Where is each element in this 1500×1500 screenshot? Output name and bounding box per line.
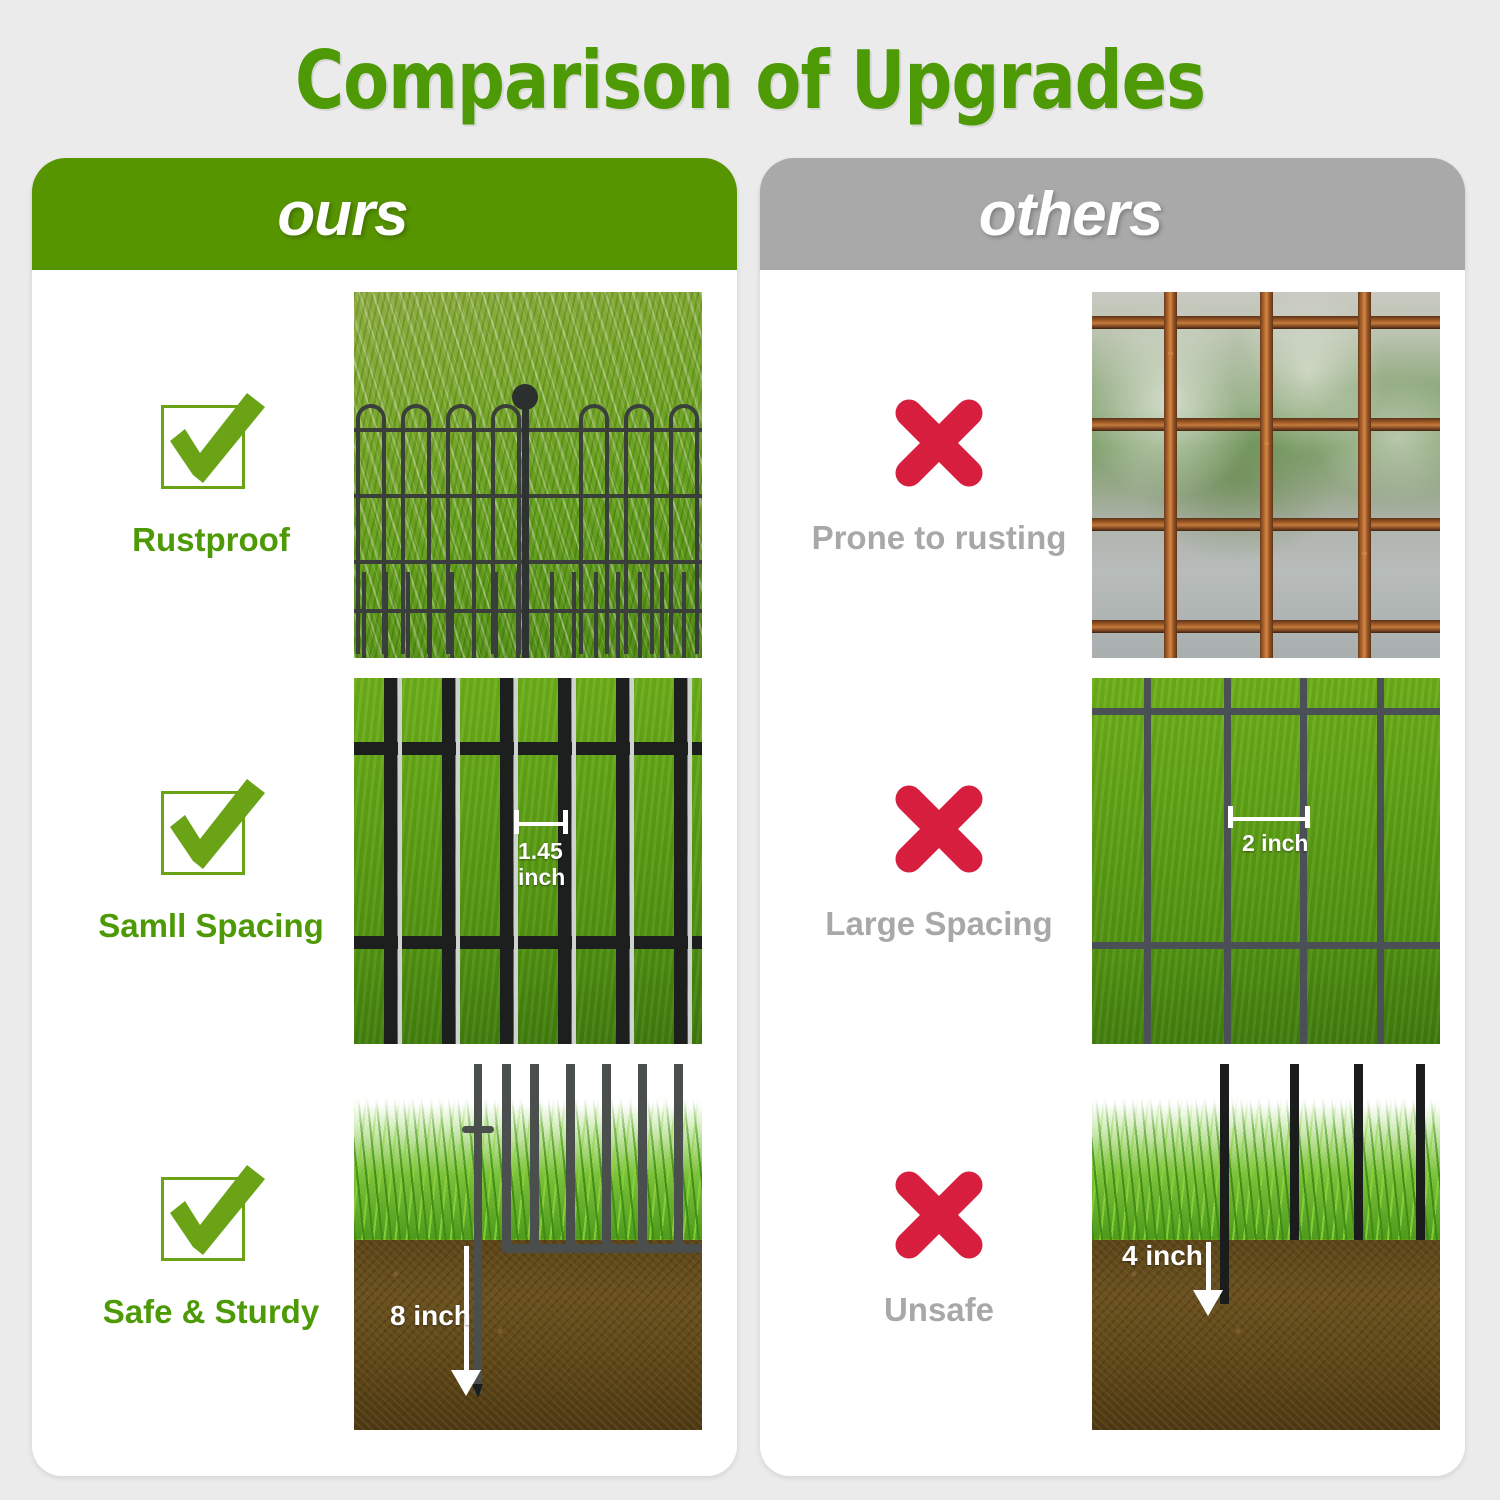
feature-unsafe: Unsafe bbox=[794, 1054, 1084, 1440]
column-header-others: others bbox=[760, 158, 1465, 270]
column-header-ours: ours bbox=[32, 158, 737, 270]
dimension-value-others: 2 inch bbox=[1242, 830, 1308, 856]
wide-spacing-fence-photo: 2 inch bbox=[1092, 678, 1440, 1044]
column-body-ours: Rustproof bbox=[32, 270, 737, 1476]
red-x-icon bbox=[887, 393, 991, 493]
feature-safe-sturdy: Safe & Sturdy bbox=[66, 1054, 356, 1440]
feature-label-unsafe: Unsafe bbox=[884, 1291, 994, 1329]
green-check-icon bbox=[155, 777, 267, 881]
comparison-infographic: Comparison of Upgrades ours Rustproof bbox=[0, 0, 1500, 1500]
column-header-label-ours: ours bbox=[277, 179, 407, 250]
dimension-unit-ours: inch bbox=[518, 864, 565, 890]
page-title: Comparison of Upgrades bbox=[53, 34, 1448, 127]
feature-label-rustproof: Rustproof bbox=[132, 521, 290, 559]
column-body-others: Prone to rusting bbox=[760, 270, 1465, 1476]
shallow-stake-cross-section: 4 inch bbox=[1092, 1064, 1440, 1430]
dimension-depth-others: 4 inch bbox=[1122, 1240, 1203, 1272]
check-mark-shape bbox=[155, 391, 267, 495]
column-ours: ours Rustproof bbox=[32, 158, 737, 1476]
green-check-icon bbox=[155, 391, 267, 495]
feature-label-safe-sturdy: Safe & Sturdy bbox=[103, 1293, 319, 1331]
row-large-spacing: Large Spacing 2 inch bbox=[760, 668, 1465, 1054]
row-rustproof: Rustproof bbox=[32, 282, 737, 668]
feature-label-prone-to-rusting: Prone to rusting bbox=[812, 519, 1067, 557]
red-x-icon bbox=[887, 779, 991, 879]
check-mark-shape bbox=[155, 1163, 267, 1267]
dimension-value-ours: 1.45 bbox=[518, 838, 563, 864]
feature-large-spacing: Large Spacing bbox=[794, 668, 1084, 1054]
narrow-spacing-fence-photo: 1.45 inch bbox=[354, 678, 702, 1044]
row-safe-sturdy: Safe & Sturdy bbox=[32, 1054, 737, 1440]
row-prone-to-rusting: Prone to rusting bbox=[760, 282, 1465, 668]
feature-prone-to-rusting: Prone to rusting bbox=[794, 282, 1084, 668]
feature-label-small-spacing: Samll Spacing bbox=[98, 907, 324, 945]
red-x-icon bbox=[887, 1165, 991, 1265]
x-mark-shape bbox=[887, 393, 991, 493]
x-mark-shape bbox=[887, 1165, 991, 1265]
rusty-wire-mesh-photo bbox=[1092, 292, 1440, 658]
fence-in-rain-photo bbox=[354, 292, 702, 658]
x-mark-shape bbox=[887, 779, 991, 879]
green-check-icon bbox=[155, 1163, 267, 1267]
feature-small-spacing: Samll Spacing bbox=[66, 668, 356, 1054]
column-others: others Prone to rusting bbox=[760, 158, 1465, 1476]
row-unsafe: Unsafe 4 inch bbox=[760, 1054, 1465, 1440]
deep-stake-cross-section: 8 inch bbox=[354, 1064, 702, 1430]
feature-label-large-spacing: Large Spacing bbox=[825, 905, 1052, 943]
check-mark-shape bbox=[155, 777, 267, 881]
row-small-spacing: Samll Spacing bbox=[32, 668, 737, 1054]
column-header-label-others: others bbox=[979, 179, 1162, 250]
feature-rustproof: Rustproof bbox=[66, 282, 356, 668]
dimension-depth-ours: 8 inch bbox=[390, 1300, 471, 1332]
